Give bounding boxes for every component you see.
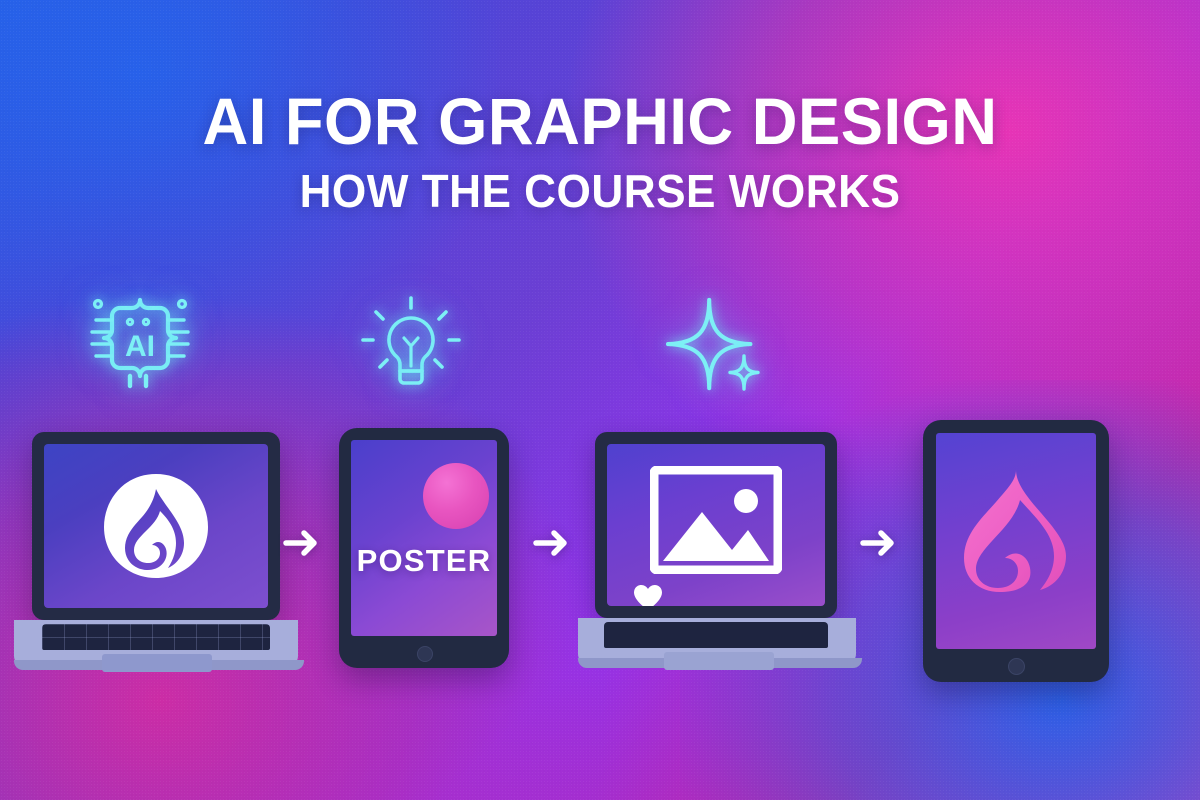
laptop-trackpad	[102, 654, 212, 672]
page-title: AI FOR GRAPHIC DESIGN	[24, 88, 1176, 154]
laptop-keyboard	[604, 622, 828, 648]
workflow-arrow-2-icon	[528, 520, 574, 566]
workflow-arrow-3-icon	[855, 520, 901, 566]
title-block: AI FOR GRAPHIC DESIGN HOW THE COURSE WOR…	[0, 88, 1200, 214]
laptop-screen	[607, 444, 825, 606]
tablet-screen: POSTER	[351, 440, 497, 636]
image-placeholder-icon	[650, 466, 782, 574]
laptop-trackpad	[664, 652, 774, 670]
tablet-screen	[936, 433, 1096, 649]
page-subtitle: HOW THE COURSE WORKS	[24, 168, 1176, 214]
laptop-screen	[44, 444, 268, 608]
workflow-step-2-tablet[interactable]: POSTER	[339, 428, 509, 672]
flame-droplet-logo-icon	[960, 468, 1072, 593]
workflow-arrow-1-icon	[278, 520, 324, 566]
tablet-home-button[interactable]	[1008, 658, 1025, 675]
workflow-step-1-laptop[interactable]	[14, 432, 310, 672]
flame-droplet-logo-icon	[102, 471, 210, 581]
slide-canvas: AI FOR GRAPHIC DESIGN HOW THE COURSE WOR…	[0, 0, 1200, 800]
laptop-keyboard	[42, 624, 270, 650]
heart-icon	[633, 584, 663, 606]
tablet-home-button[interactable]	[417, 646, 433, 662]
poster-accent-circle	[423, 463, 489, 529]
workflow-step-4-tablet[interactable]	[923, 420, 1109, 686]
workflow-step-3-laptop[interactable]	[578, 432, 868, 672]
poster-label: POSTER	[351, 543, 497, 579]
